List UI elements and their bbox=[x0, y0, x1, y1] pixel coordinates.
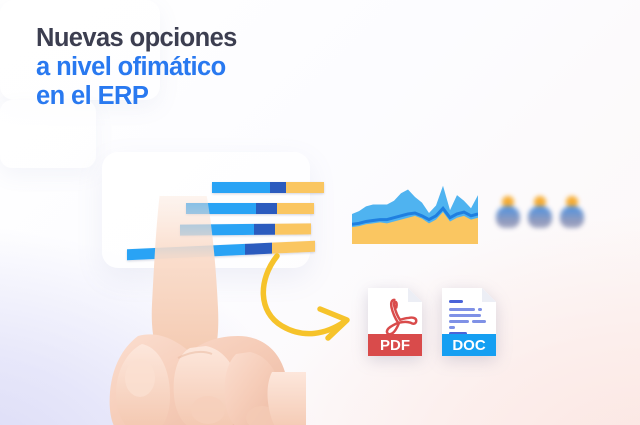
people-widget bbox=[496, 184, 584, 240]
promo-banner: Nuevas opciones a nivel ofimático en el … bbox=[0, 0, 640, 425]
headline-line-3: en el ERP bbox=[36, 82, 366, 111]
avatar-body bbox=[560, 206, 584, 228]
page-title: Nuevas opciones a nivel ofimático en el … bbox=[36, 24, 366, 111]
doc-text-line bbox=[449, 320, 469, 323]
area-chart bbox=[352, 182, 478, 244]
doc-text-line bbox=[478, 308, 482, 311]
headline-line-2: a nivel ofimático bbox=[36, 53, 366, 82]
doc-text-line bbox=[472, 320, 486, 323]
bar-segment-light-blue bbox=[212, 182, 270, 193]
bar-row bbox=[212, 182, 324, 193]
bar-segment-yellow bbox=[286, 182, 324, 193]
doc-text-line bbox=[449, 300, 463, 303]
avatar-body bbox=[528, 206, 552, 228]
bar-segment-dark-blue bbox=[270, 182, 286, 193]
headline-line-1: Nuevas opciones bbox=[36, 24, 366, 53]
doc-text-line bbox=[449, 314, 481, 317]
curved-arrow bbox=[252, 252, 362, 344]
avatar-body bbox=[496, 206, 520, 228]
doc-text-line bbox=[449, 308, 475, 311]
doc-file-icon[interactable]: DOC bbox=[440, 286, 498, 358]
pdf-label: PDF bbox=[380, 337, 410, 354]
pdf-file-icon[interactable]: PDF bbox=[366, 286, 424, 358]
doc-label: DOC bbox=[452, 337, 486, 354]
person-avatar-icon bbox=[496, 196, 520, 228]
person-avatar-icon bbox=[528, 196, 552, 228]
person-avatar-icon bbox=[560, 196, 584, 228]
doc-text-line bbox=[449, 326, 455, 329]
